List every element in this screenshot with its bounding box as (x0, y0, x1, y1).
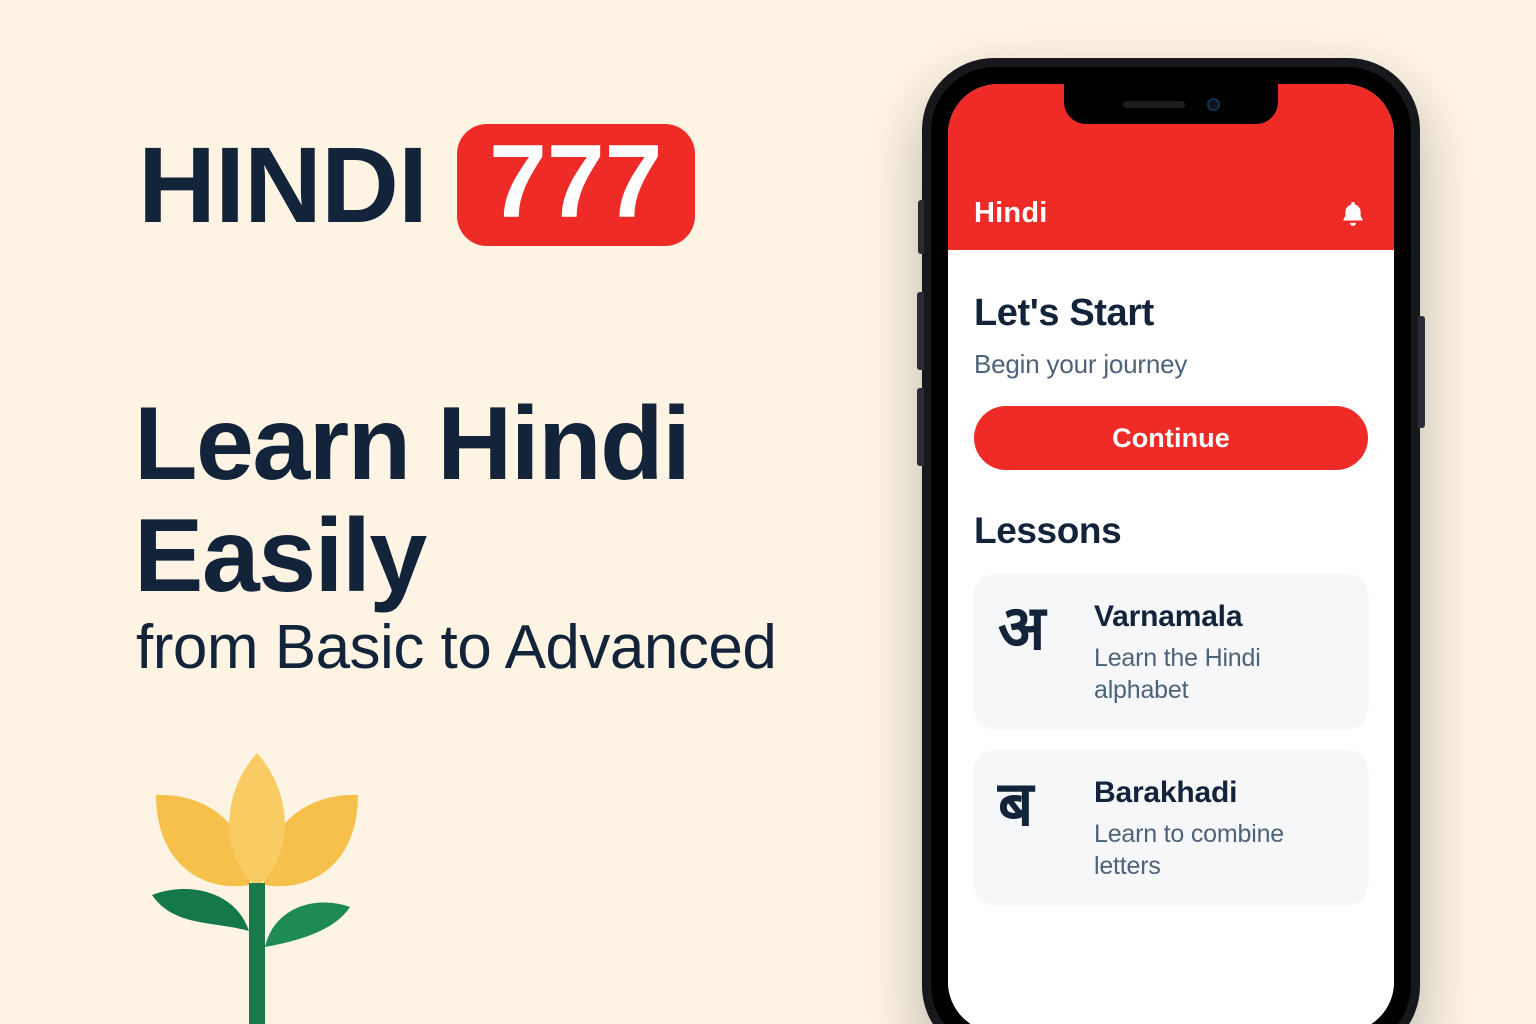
phone-mockup: Hindi Let's Start Begin your journey Con… (922, 58, 1420, 1024)
front-camera-icon (1207, 98, 1220, 111)
start-section-subtitle: Begin your journey (974, 349, 1368, 380)
brand-word: HINDI (138, 131, 427, 239)
continue-button[interactable]: Continue (974, 406, 1368, 470)
lesson-text: Varnamala Learn the Hindi alphabet (1094, 596, 1344, 706)
lesson-card-varnamala[interactable]: अ Varnamala Learn the Hindi alphabet (974, 574, 1368, 728)
tulip-flower-icon (144, 735, 370, 1024)
page-title: Learn Hindi Easily (134, 388, 894, 613)
lesson-glyph: अ (998, 596, 1072, 661)
brand-number-badge: 777 (457, 124, 695, 246)
promo-banner: HINDI 777 Learn Hindi Easily from Basic … (0, 0, 1536, 1024)
app-content: Let's Start Begin your journey Continue … (948, 250, 1394, 1024)
lesson-card-barakhadi[interactable]: ब Barakhadi Learn to combine letters (974, 750, 1368, 904)
start-section-title: Let's Start (974, 292, 1368, 335)
lessons-heading: Lessons (974, 510, 1368, 552)
headline-line-2: Easily (134, 500, 894, 612)
app-bar-title: Hindi (974, 197, 1048, 230)
brand-logo: HINDI 777 (138, 112, 695, 258)
lesson-description: Learn the Hindi alphabet (1094, 642, 1344, 706)
bell-icon[interactable] (1338, 198, 1368, 230)
subheadline: from Basic to Advanced (136, 612, 776, 683)
volume-down-button[interactable] (917, 388, 924, 466)
brand-badge-number: 777 (489, 130, 663, 234)
lesson-title: Barakhadi (1094, 776, 1344, 810)
earpiece-speaker-icon (1123, 101, 1185, 108)
headline-line-1: Learn Hindi (134, 388, 894, 500)
lesson-description: Learn to combine letters (1094, 818, 1344, 882)
phone-screen: Hindi Let's Start Begin your journey Con… (948, 84, 1394, 1024)
phone-notch (1064, 84, 1278, 124)
lesson-glyph: ब (998, 772, 1072, 837)
mute-switch[interactable] (918, 200, 924, 254)
volume-up-button[interactable] (917, 292, 924, 370)
lesson-text: Barakhadi Learn to combine letters (1094, 772, 1344, 882)
lesson-title: Varnamala (1094, 600, 1344, 634)
power-button[interactable] (1418, 316, 1425, 428)
